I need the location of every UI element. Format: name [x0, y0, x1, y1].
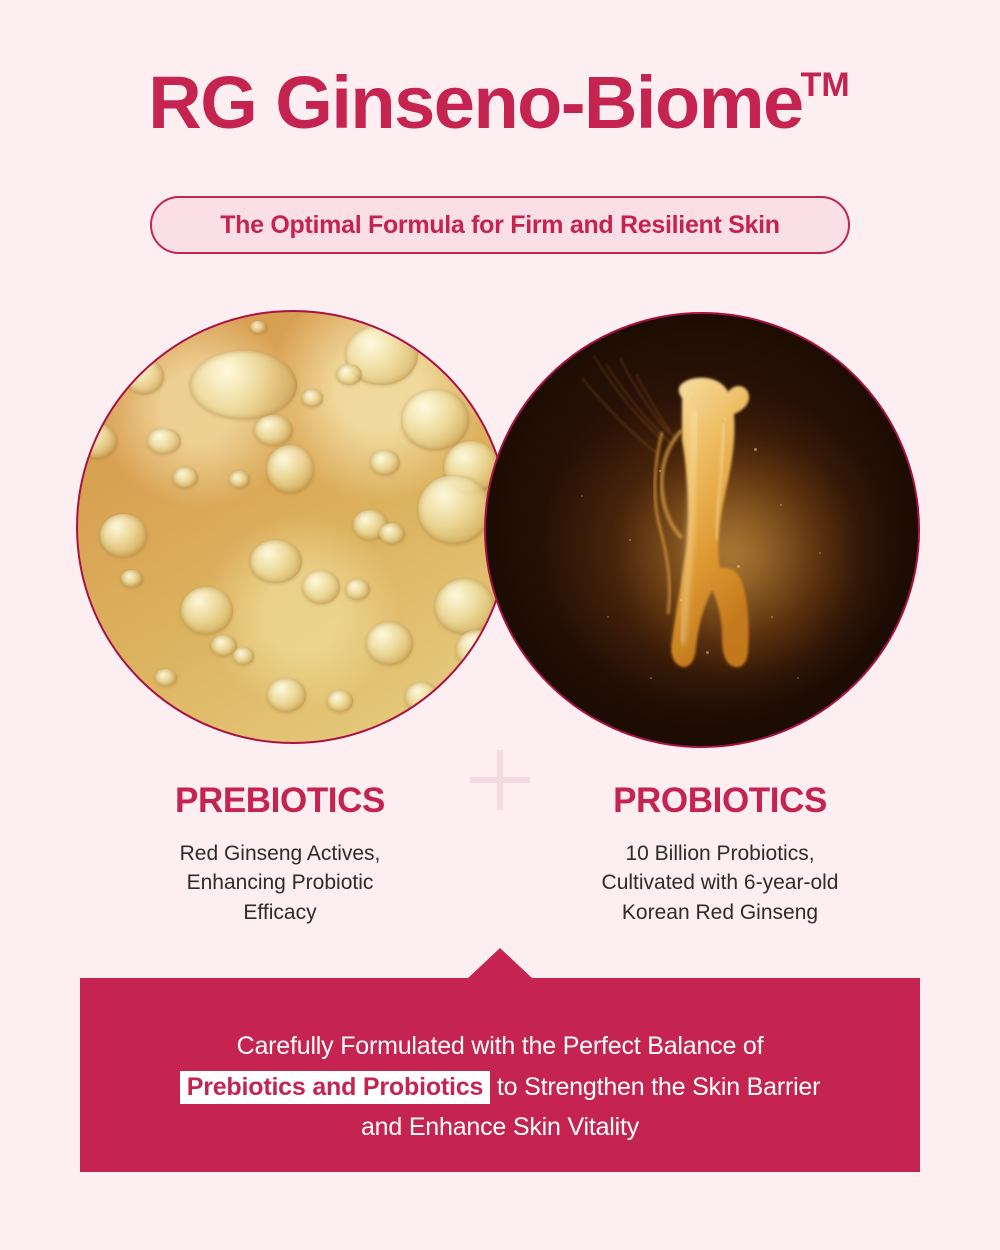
ginseng-root-graphic [486, 314, 918, 746]
summary-banner-text: Carefully Formulated with the Perfect Ba… [80, 1026, 920, 1148]
trademark-symbol: TM [801, 66, 850, 104]
prebiotics-line-3: Efficacy [60, 898, 500, 928]
page-title: RG Ginseno-BiomeTM [0, 66, 1000, 140]
probiotics-image [484, 312, 920, 748]
summary-banner: Carefully Formulated with the Perfect Ba… [80, 978, 920, 1172]
prebiotics-line-1: Red Ginseng Actives, [60, 839, 500, 869]
probiotics-description: 10 Billion Probiotics, Cultivated with 6… [500, 839, 940, 928]
probiotics-line-1: 10 Billion Probiotics, [500, 839, 940, 869]
prebiotics-description: Red Ginseng Actives, Enhancing Probiotic… [60, 839, 500, 928]
subtitle-pill-label: The Optimal Formula for Firm and Resilie… [220, 211, 780, 240]
banner-highlight: Prebiotics and Probiotics [180, 1071, 490, 1104]
banner-line-1: Carefully Formulated with the Perfect Ba… [80, 1026, 920, 1067]
product-infographic: RG Ginseno-BiomeTM The Optimal Formula f… [0, 0, 1000, 1250]
probiotics-line-3: Korean Red Ginseng [500, 898, 940, 928]
prebiotics-line-2: Enhancing Probiotic [60, 868, 500, 898]
prebiotics-heading: PREBIOTICS [60, 782, 500, 821]
plus-icon [470, 750, 530, 810]
column-prebiotics: PREBIOTICS Red Ginseng Actives, Enhancin… [60, 782, 500, 928]
banner-line-3: and Enhance Skin Vitality [80, 1107, 920, 1148]
banner-line-2-rest: to Strengthen the Skin Barrier [490, 1073, 820, 1101]
bubble-texture [78, 312, 508, 742]
probiotics-line-2: Cultivated with 6-year-old [500, 868, 940, 898]
page-title-text: RG Ginseno-Biome [148, 61, 802, 144]
column-probiotics: PROBIOTICS 10 Billion Probiotics, Cultiv… [500, 782, 940, 928]
banner-notch-triangle [467, 948, 533, 979]
subtitle-pill: The Optimal Formula for Firm and Resilie… [150, 196, 850, 254]
banner-line-2: Prebiotics and Probiotics to Strengthen … [80, 1067, 920, 1108]
prebiotics-image [76, 310, 510, 744]
ginseng-root-icon [486, 314, 920, 748]
probiotics-heading: PROBIOTICS [500, 782, 940, 821]
